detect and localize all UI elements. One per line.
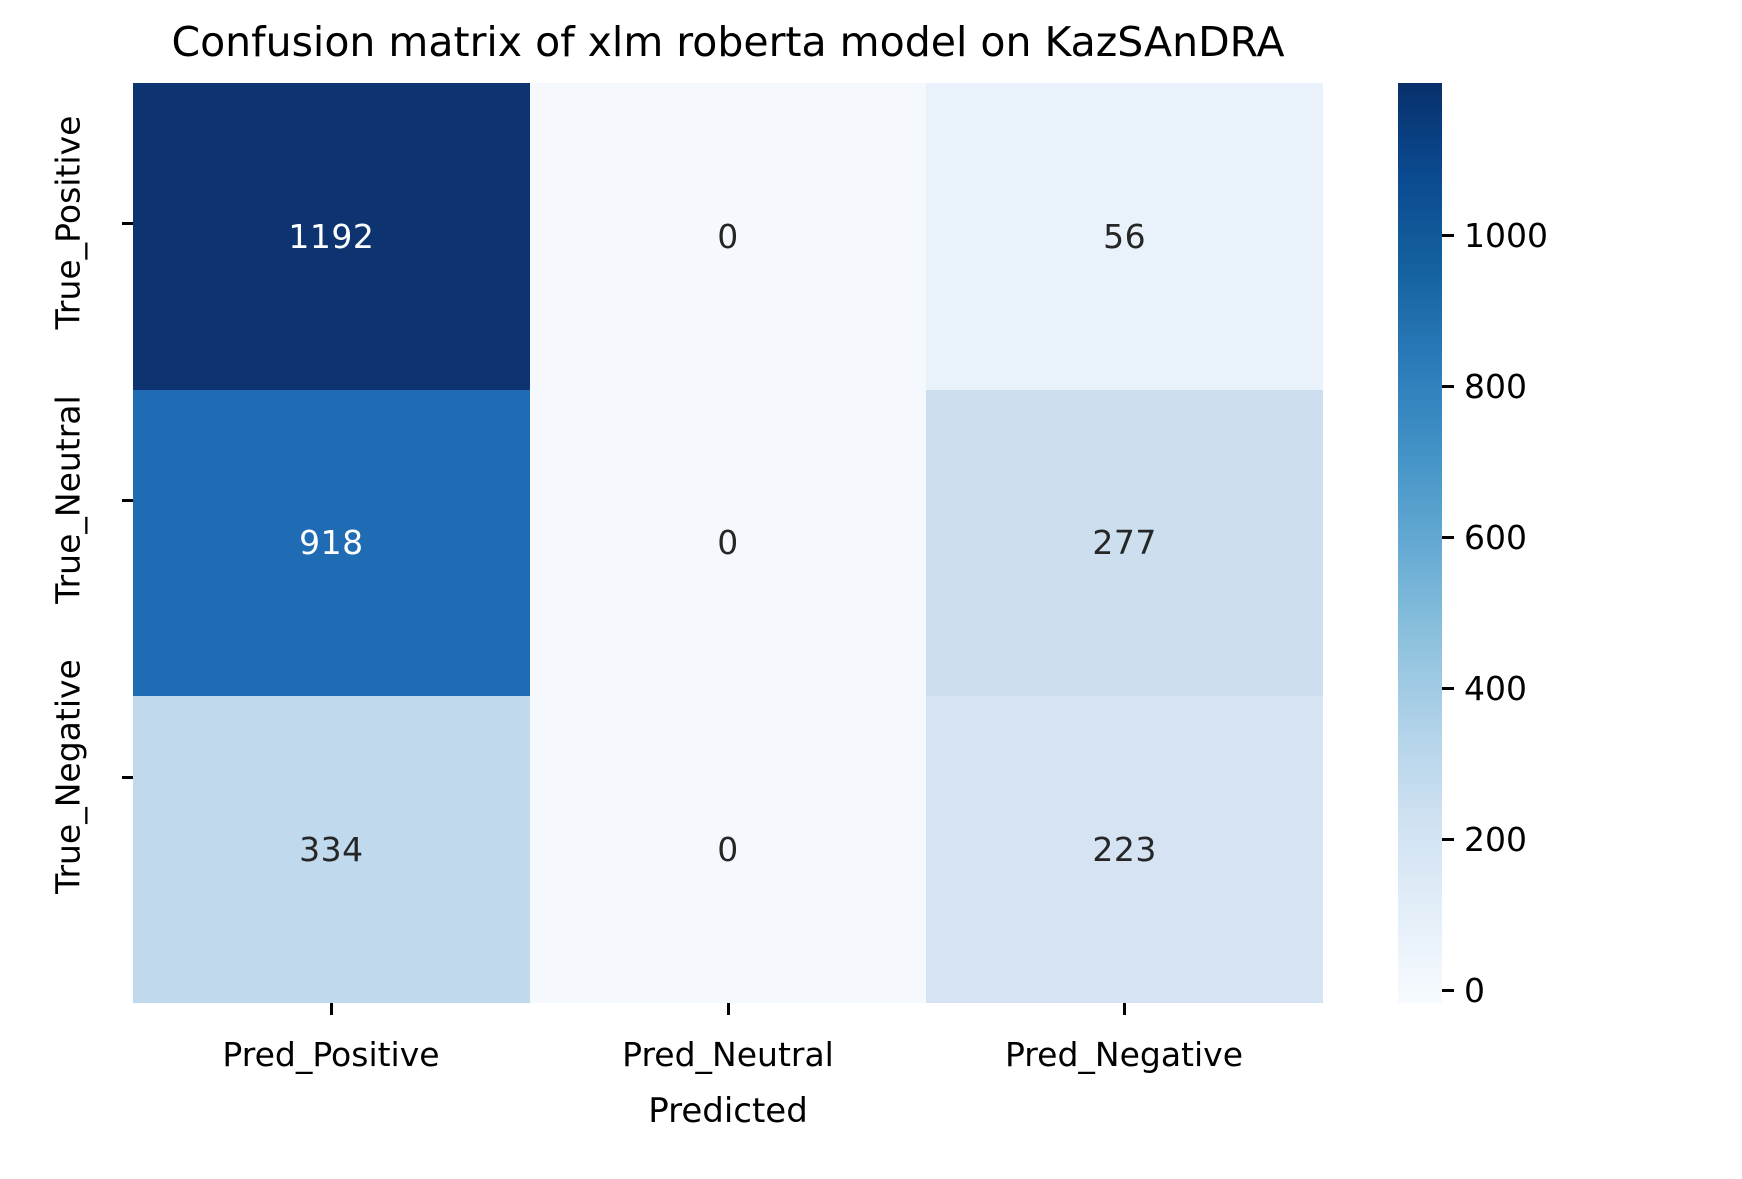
cell-value: 334 (299, 833, 364, 866)
y-tick-mark-0 (122, 222, 133, 225)
colorbar-tick-label-400: 400 (1464, 672, 1527, 705)
x-tick-mark-1 (727, 1003, 730, 1015)
cell-value: 918 (299, 526, 364, 559)
heatmap-cell-2-2[interactable]: 223 (926, 696, 1323, 1003)
heatmap-cell-1-2[interactable]: 277 (926, 390, 1323, 697)
colorbar-tick-mark-0 (1442, 989, 1454, 992)
y-tick-mark-2 (122, 776, 133, 779)
cell-value: 223 (1092, 833, 1157, 866)
x-axis-title: Predicted (133, 1090, 1323, 1132)
confusion-matrix-figure: Confusion matrix of xlm roberta model on… (0, 0, 1742, 1179)
page-title: Confusion matrix of xlm roberta model on… (133, 16, 1323, 68)
heatmap-cell-1-0[interactable]: 918 (133, 390, 530, 697)
cell-value: 0 (717, 526, 739, 559)
colorbar-tick-mark-800 (1442, 385, 1454, 388)
heatmap-cell-0-2[interactable]: 56 (926, 83, 1323, 390)
x-tick-label-pred-negative: Pred_Negative (924, 1035, 1324, 1075)
y-tick-label-true-negative: True_Negative (52, 627, 85, 927)
heatmap-cell-2-0[interactable]: 334 (133, 696, 530, 1003)
heatmap-cell-1-1[interactable]: 0 (530, 390, 927, 697)
colorbar-tick-label-1000: 1000 (1464, 219, 1548, 252)
x-tick-label-pred-positive: Pred_Positive (131, 1035, 531, 1075)
y-tick-mark-1 (122, 499, 133, 502)
colorbar-tick-label-0: 0 (1464, 974, 1485, 1007)
colorbar-tick-label-200: 200 (1464, 823, 1527, 856)
x-tick-label-pred-neutral: Pred_Neutral (528, 1035, 928, 1075)
cell-value: 0 (717, 833, 739, 866)
cell-value: 1192 (288, 220, 374, 253)
heatmap-grid: 1192 0 56 918 0 277 334 0 223 (133, 83, 1323, 1003)
colorbar-tick-mark-400 (1442, 687, 1454, 690)
y-tick-label-true-neutral: True_Neutral (52, 350, 85, 650)
heatmap-cell-2-1[interactable]: 0 (530, 696, 927, 1003)
x-tick-mark-0 (330, 1003, 333, 1015)
heatmap-cell-0-1[interactable]: 0 (530, 83, 927, 390)
cell-value: 0 (717, 220, 739, 253)
heatmap-cell-0-0[interactable]: 1192 (133, 83, 530, 390)
colorbar-tick-label-600: 600 (1464, 521, 1527, 554)
cell-value: 277 (1092, 526, 1157, 559)
x-tick-mark-2 (1123, 1003, 1126, 1015)
cell-value: 56 (1103, 220, 1146, 253)
colorbar-tick-mark-200 (1442, 838, 1454, 841)
colorbar-gradient (1398, 83, 1442, 1003)
colorbar: 1000 800 600 400 200 0 (1398, 83, 1442, 1003)
colorbar-tick-label-800: 800 (1464, 370, 1527, 403)
colorbar-tick-mark-1000 (1442, 234, 1454, 237)
colorbar-tick-mark-600 (1442, 536, 1454, 539)
y-tick-label-true-positive: True_Positive (52, 73, 85, 373)
